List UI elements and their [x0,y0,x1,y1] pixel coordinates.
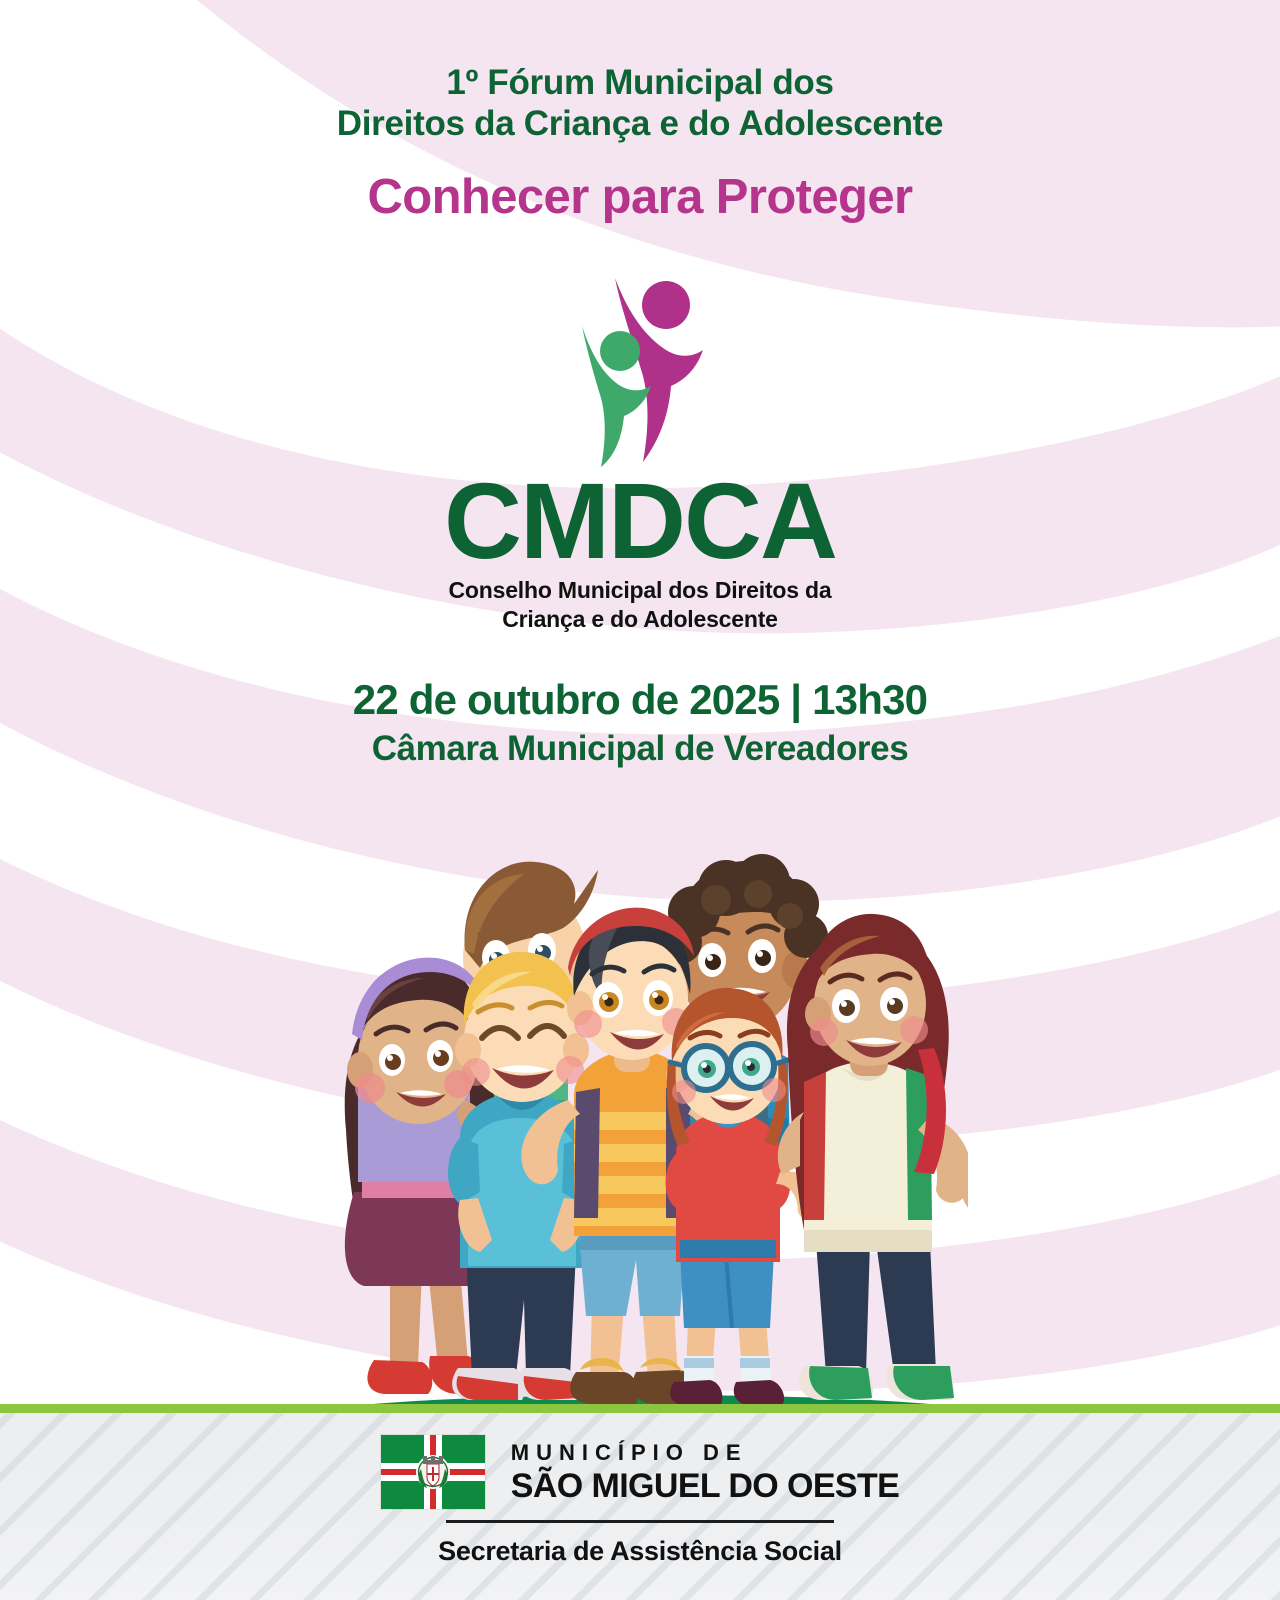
sao-miguel-do-oeste-flag-icon [381,1435,485,1509]
event-venue: Câmara Municipal de Vereadores [0,728,1280,770]
footer-band: MUNICÍPIO DE SÃO MIGUEL DO OESTE Secreta… [0,1413,1280,1600]
two-figures-logo-icon [565,272,715,467]
municipality-name: SÃO MIGUEL DO OESTE [511,1469,899,1503]
header-block: 1º Fórum Municipal dos Direitos da Crian… [0,62,1280,224]
cmdca-acronym: CMDCA [0,471,1280,570]
event-slogan: Conhecer para Proteger [0,171,1280,225]
cmdca-logo-block: CMDCA Conselho Municipal dos Direitos da… [0,272,1280,633]
child-cream-top-girl [778,914,968,1400]
footer-divider [446,1520,834,1523]
children-illustration [318,800,968,1420]
poster-canvas: 1º Fórum Municipal dos Direitos da Crian… [0,0,1280,1600]
ground-accent-line [0,1404,1280,1413]
event-details-block: 22 de outubro de 2025 | 13h30 Câmara Mun… [0,676,1280,770]
municipality-prefix: MUNICÍPIO DE [511,1442,899,1464]
event-date-time: 22 de outubro de 2025 | 13h30 [0,676,1280,724]
department-name: Secretaria de Assistência Social [438,1536,842,1567]
page-title: 1º Fórum Municipal dos Direitos da Crian… [0,62,1280,145]
municipality-logo-row: MUNICÍPIO DE SÃO MIGUEL DO OESTE [381,1435,899,1509]
cmdca-full-name: Conselho Municipal dos Direitos da Crian… [0,576,1280,633]
